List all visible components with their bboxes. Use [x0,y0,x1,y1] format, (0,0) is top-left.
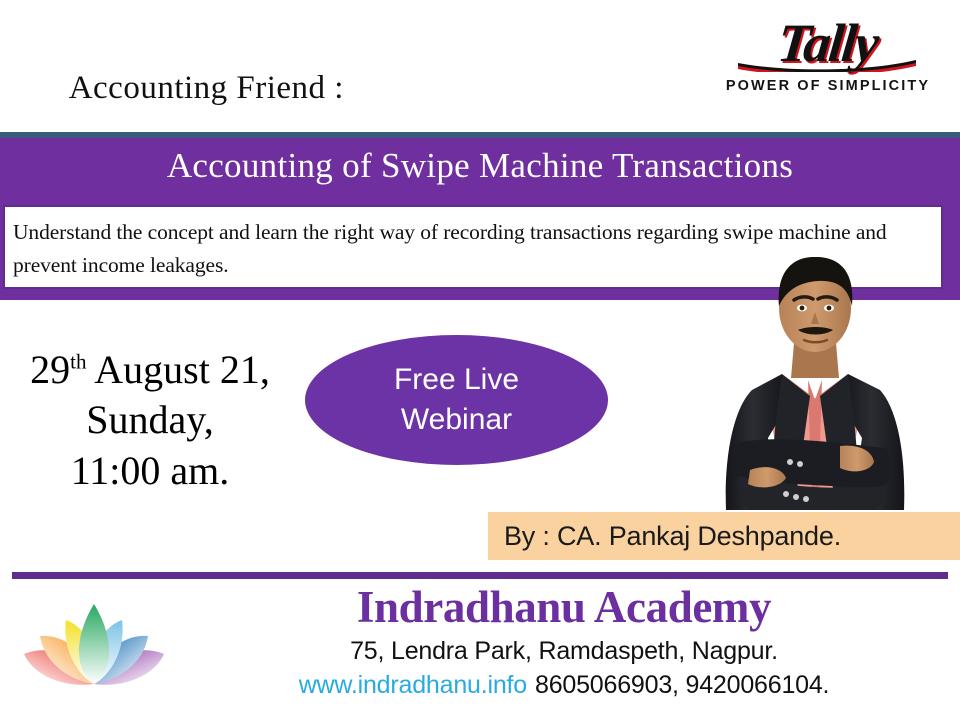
academy-address: 75, Lendra Park, Ramdaspeth, Nagpur. [168,637,960,666]
academy-info: Indradhanu Academy 75, Lendra Park, Ramd… [168,583,960,700]
academy-contact: www.indradhanu.info8605066903, 942006610… [168,671,960,700]
event-date-line: 29th August 21, [0,345,300,395]
lotus-icon [18,592,170,696]
academy-website-link[interactable]: www.indradhanu.info [299,671,527,699]
academy-phone-numbers: 8605066903, 9420066104. [535,671,829,699]
webinar-title: Accounting of Swipe Machine Transactions [0,146,960,186]
session-title-line1: Accounting Friend : [69,70,344,106]
event-time: 11:00 am. [0,446,300,496]
event-datetime: 29th August 21, Sunday, 11:00 am. [0,345,300,496]
event-date-rest: August 21, [86,347,269,392]
tally-logo: Tally POWER OF SIMPLICITY [722,14,934,106]
badge-line-1: Free Live [394,360,519,400]
webinar-flyer: Accounting Friend : Session 92 Tally POW… [0,0,960,720]
flyer-header: Accounting Friend : Session 92 Tally POW… [0,0,960,132]
badge-line-2: Webinar [401,400,512,440]
speaker-name-banner: By : CA. Pankaj Deshpande. [488,512,960,560]
event-date-ordinal: th [70,350,86,374]
footer-divider [12,572,948,579]
tally-swoosh-icon [736,59,918,72]
tally-tagline: POWER OF SIMPLICITY [722,78,934,94]
event-weekday: Sunday, [0,395,300,445]
speaker-photo [690,248,940,548]
academy-name: Indradhanu Academy [168,583,960,632]
speaker-name: By : CA. Pankaj Deshpande. [488,521,841,552]
event-date-day: 29 [30,347,70,392]
tally-wordmark: Tally [722,14,934,76]
free-live-webinar-badge: Free Live Webinar [305,335,608,465]
